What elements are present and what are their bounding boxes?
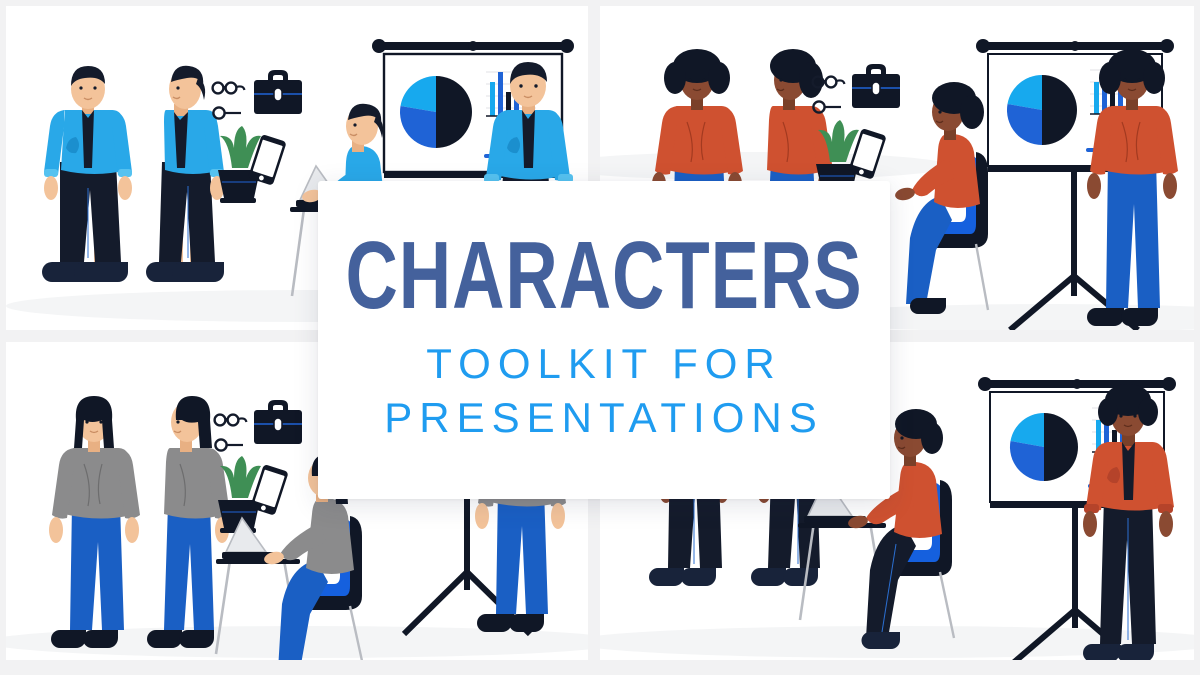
subtitle-line-1: TOOLKIT FOR bbox=[426, 338, 782, 390]
chart-pie bbox=[1010, 413, 1078, 481]
chart-pie bbox=[400, 76, 472, 148]
title-card: CHARACTERS TOOLKIT FOR PRESENTATIONS bbox=[318, 181, 890, 499]
page-title: CHARACTERS bbox=[345, 227, 862, 322]
subtitle-line-2: PRESENTATIONS bbox=[384, 392, 824, 444]
chart-pie bbox=[1007, 75, 1077, 145]
slide-canvas: CHARACTERS TOOLKIT FOR PRESENTATIONS bbox=[0, 0, 1200, 675]
